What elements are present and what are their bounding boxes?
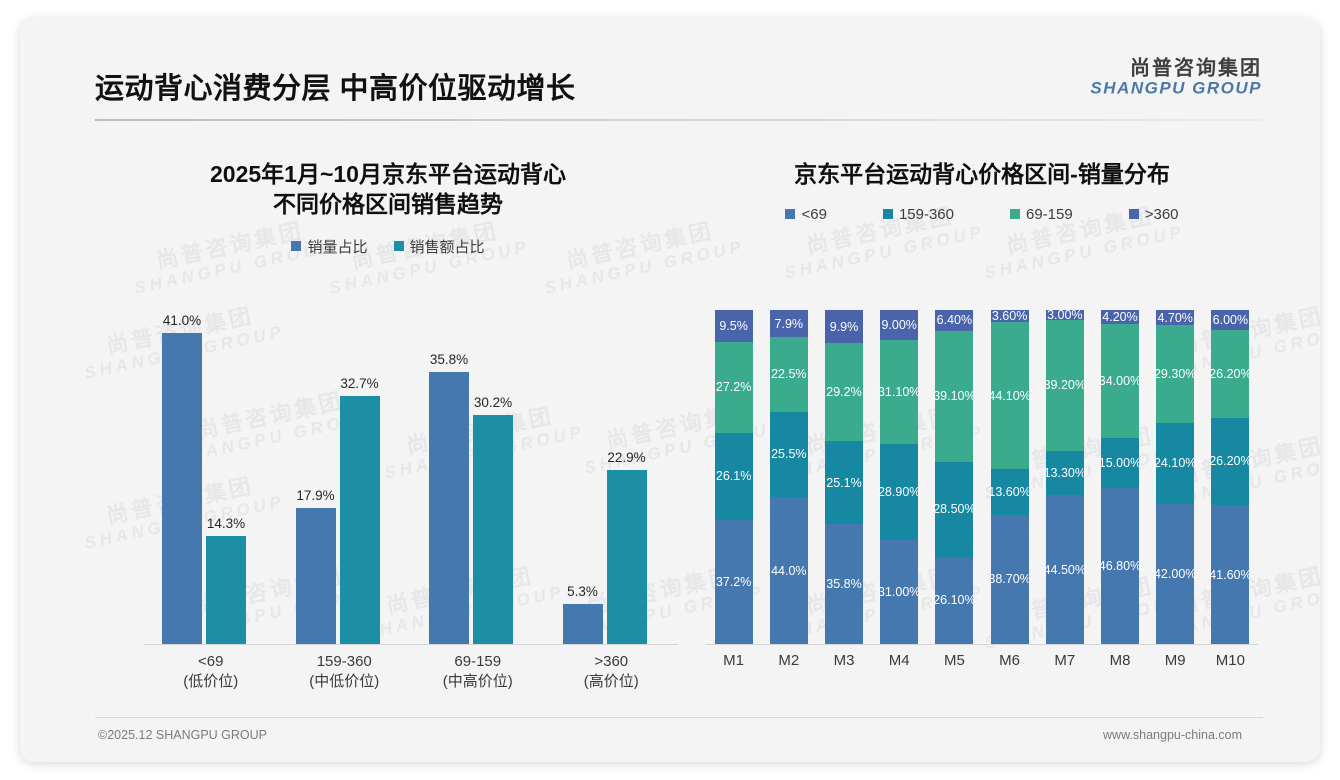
bar-group: 41.0%14.3% bbox=[144, 314, 278, 644]
brand-logo: 尚普咨询集团 SHANGPU GROUP bbox=[1090, 59, 1262, 98]
stacked-bar-segment[interactable]: 7.9% bbox=[770, 310, 808, 336]
chart-title-left-line2: 不同价格区间销售趋势 bbox=[98, 190, 678, 220]
stacked-bar-column[interactable]: 38.70%13.60%44.10%3.60% bbox=[991, 310, 1029, 644]
bar-group: 5.3%22.9% bbox=[545, 314, 679, 644]
stacked-bar-value-label: 31.00% bbox=[878, 585, 920, 599]
stacked-bar-segment[interactable]: 25.5% bbox=[770, 412, 808, 497]
stacked-bar-segment[interactable]: 15.00% bbox=[1101, 438, 1139, 488]
x-axis-month-label: M10 bbox=[1195, 652, 1265, 669]
legend-swatch-icon bbox=[291, 241, 301, 251]
stacked-bar-value-label: 3.00% bbox=[1047, 308, 1082, 322]
stacked-bar-segment[interactable]: 34.00% bbox=[1101, 324, 1139, 438]
brand-logo-cn: 尚普咨询集团 bbox=[1090, 59, 1262, 80]
stacked-bar-value-label: 28.90% bbox=[878, 485, 920, 499]
stacked-bar-value-label: 9.9% bbox=[830, 320, 859, 334]
grouped-bar-x-axis bbox=[144, 644, 678, 645]
legend-label: 销量占比 bbox=[307, 236, 367, 257]
bar-rect[interactable] bbox=[296, 508, 336, 644]
page-title: 运动背心消费分层 中高价位驱动增长 bbox=[95, 65, 576, 107]
stacked-bar-segment[interactable]: 28.90% bbox=[880, 444, 918, 541]
legend-item-left-1[interactable]: 销售额占比 bbox=[394, 236, 485, 257]
bar-group: 17.9%32.7% bbox=[278, 314, 412, 644]
stacked-bar-column[interactable]: 44.0%25.5%22.5%7.9% bbox=[770, 310, 808, 644]
bar-column[interactable]: 32.7% bbox=[340, 314, 380, 644]
bar-column[interactable]: 14.3% bbox=[206, 314, 246, 644]
stacked-bar-value-label: 35.8% bbox=[826, 577, 861, 591]
chart-legend-right: <69159-36069-159>360 bbox=[692, 206, 1272, 223]
legend-label: <69 bbox=[801, 206, 826, 223]
x-axis-category-label: 159-360(中低价位) bbox=[274, 652, 414, 693]
stacked-bar-segment[interactable]: 27.2% bbox=[715, 342, 753, 433]
x-axis-category-name: 69-159 bbox=[408, 652, 548, 672]
stacked-bar-value-label: 22.5% bbox=[771, 367, 806, 381]
chart-title-left-line1: 2025年1月~10月京东平台运动背心 bbox=[98, 160, 678, 190]
x-axis-category-sublabel: (高价位) bbox=[541, 672, 681, 692]
legend-label: 159-360 bbox=[899, 206, 954, 223]
bar-column[interactable]: 30.2% bbox=[473, 314, 513, 644]
bar-rect[interactable] bbox=[162, 333, 202, 644]
footer-website[interactable]: www.shangpu-china.com bbox=[1103, 728, 1242, 742]
footer-divider bbox=[95, 717, 1263, 718]
stacked-bar-value-label: 31.10% bbox=[878, 385, 920, 399]
stacked-bar-segment[interactable]: 37.2% bbox=[715, 520, 753, 644]
legend-item-right-3[interactable]: >360 bbox=[1129, 206, 1179, 223]
x-axis-category-label: >360(高价位) bbox=[541, 652, 681, 693]
bar-column[interactable]: 35.8% bbox=[429, 314, 469, 644]
legend-label: 销售额占比 bbox=[410, 236, 485, 257]
bar-rect[interactable] bbox=[340, 396, 380, 644]
stacked-bar-value-label: 46.80% bbox=[1099, 559, 1141, 573]
stacked-bar-value-label: 27.2% bbox=[716, 380, 751, 394]
legend-swatch-icon bbox=[1010, 209, 1020, 219]
bar-value-label: 14.3% bbox=[189, 516, 263, 531]
stacked-bar-segment[interactable]: 28.50% bbox=[935, 462, 973, 557]
bar-column[interactable]: 41.0% bbox=[162, 314, 202, 644]
stacked-bar-segment[interactable]: 44.0% bbox=[770, 497, 808, 644]
bar-group: 35.8%30.2% bbox=[411, 314, 545, 644]
footer-copyright: ©2025.12 SHANGPU GROUP bbox=[98, 728, 267, 742]
stacked-bar-column[interactable]: 44.50%13.30%39.20%3.00% bbox=[1046, 310, 1084, 644]
x-axis-category-name: <69 bbox=[141, 652, 281, 672]
stacked-bar-value-label: 34.00% bbox=[1099, 374, 1141, 388]
legend-item-right-1[interactable]: 159-360 bbox=[883, 206, 954, 223]
stacked-bar-value-label: 6.40% bbox=[937, 313, 972, 327]
header-divider bbox=[95, 119, 1263, 121]
chart-title-left: 2025年1月~10月京东平台运动背心 不同价格区间销售趋势 bbox=[98, 146, 678, 220]
stacked-bar-value-label: 25.5% bbox=[771, 447, 806, 461]
legend-item-right-2[interactable]: 69-159 bbox=[1010, 206, 1073, 223]
legend-item-left-0[interactable]: 销量占比 bbox=[291, 236, 367, 257]
stacked-bar-column[interactable]: 41.60%26.20%26.20%6.00% bbox=[1211, 310, 1249, 644]
stacked-bar-segment[interactable]: 3.00% bbox=[1046, 310, 1084, 320]
stacked-bar-segment[interactable]: 9.9% bbox=[825, 310, 863, 343]
chart-panel-price-band-distribution: 京东平台运动背心价格区间-销量分布 <69159-36069-159>360 3… bbox=[692, 146, 1272, 716]
legend-label: 69-159 bbox=[1026, 206, 1073, 223]
stacked-bar-segment[interactable]: 9.00% bbox=[880, 310, 918, 340]
bar-column[interactable]: 17.9% bbox=[296, 314, 336, 644]
stacked-bar-value-label: 29.2% bbox=[826, 385, 861, 399]
stacked-bar-column[interactable]: 46.80%15.00%34.00%4.20% bbox=[1101, 310, 1139, 644]
x-axis-category-sublabel: (低价位) bbox=[141, 672, 281, 692]
stacked-bar-value-label: 13.30% bbox=[1044, 466, 1086, 480]
bar-column[interactable]: 22.9% bbox=[607, 314, 647, 644]
stacked-bar-segment[interactable]: 42.00% bbox=[1156, 504, 1194, 644]
stacked-bar-segment[interactable]: 24.10% bbox=[1156, 423, 1194, 503]
stacked-bar-value-label: 6.00% bbox=[1213, 313, 1248, 327]
stacked-bar-segment[interactable]: 13.60% bbox=[991, 469, 1029, 514]
stacked-bar-value-label: 29.30% bbox=[1154, 367, 1196, 381]
legend-item-right-0[interactable]: <69 bbox=[785, 206, 826, 223]
stacked-bar-segment[interactable]: 31.10% bbox=[880, 340, 918, 444]
stacked-bar-column[interactable]: 42.00%24.10%29.30%4.70% bbox=[1156, 310, 1194, 644]
stacked-bar-segment[interactable]: 4.70% bbox=[1156, 310, 1194, 326]
bar-rect[interactable] bbox=[206, 536, 246, 644]
stacked-bar-value-label: 44.0% bbox=[771, 564, 806, 578]
x-axis-category-label: <69(低价位) bbox=[141, 652, 281, 693]
stacked-bar-segment[interactable]: 26.10% bbox=[935, 557, 973, 644]
legend-swatch-icon bbox=[394, 241, 404, 251]
stacked-bar-segment[interactable]: 41.60% bbox=[1211, 505, 1249, 644]
stacked-bar-column[interactable]: 31.00%28.90%31.10%9.00% bbox=[880, 310, 918, 644]
stacked-bar-value-label: 26.20% bbox=[1209, 454, 1251, 468]
bar-rect[interactable] bbox=[563, 604, 603, 644]
stacked-bar-value-label: 15.00% bbox=[1099, 456, 1141, 470]
stacked-bar-segment[interactable]: 29.2% bbox=[825, 343, 863, 441]
stacked-bar-value-label: 25.1% bbox=[826, 476, 861, 490]
legend-label: >360 bbox=[1145, 206, 1179, 223]
stacked-bar-segment[interactable]: 13.30% bbox=[1046, 451, 1084, 495]
stacked-bar-plot-area: 37.2%26.1%27.2%9.5%44.0%25.5%22.5%7.9%35… bbox=[706, 310, 1258, 644]
stacked-bar-column[interactable]: 37.2%26.1%27.2%9.5% bbox=[715, 310, 753, 644]
stacked-bar-value-label: 9.5% bbox=[719, 319, 748, 333]
stacked-bar-x-axis bbox=[706, 644, 1258, 645]
stacked-bar-segment[interactable]: 39.20% bbox=[1046, 320, 1084, 451]
stacked-bar-value-label: 41.60% bbox=[1209, 568, 1251, 582]
stacked-bar-value-label: 7.9% bbox=[775, 317, 804, 331]
stacked-bar-segment[interactable]: 6.40% bbox=[935, 310, 973, 331]
stacked-bar-segment[interactable]: 38.70% bbox=[991, 515, 1029, 644]
x-axis-category-sublabel: (中高价位) bbox=[408, 672, 548, 692]
x-axis-category-name: 159-360 bbox=[274, 652, 414, 672]
legend-swatch-icon bbox=[1129, 209, 1139, 219]
bar-rect[interactable] bbox=[473, 415, 513, 644]
stacked-bar-segment[interactable]: 25.1% bbox=[825, 441, 863, 525]
brand-logo-en: SHANGPU GROUP bbox=[1090, 80, 1262, 98]
stacked-bar-segment[interactable]: 26.20% bbox=[1211, 418, 1249, 506]
stacked-bar-value-label: 13.60% bbox=[988, 485, 1030, 499]
stacked-bar-value-label: 39.10% bbox=[933, 389, 975, 403]
grouped-bar-plot-area: 41.0%14.3%17.9%32.7%35.8%30.2%5.3%22.9% bbox=[144, 314, 678, 644]
stacked-bar-value-label: 37.2% bbox=[716, 575, 751, 589]
stacked-bar-value-label: 24.10% bbox=[1154, 456, 1196, 470]
stacked-bar-segment[interactable]: 44.50% bbox=[1046, 495, 1084, 644]
stacked-bar-segment[interactable]: 3.60% bbox=[991, 310, 1029, 322]
slide-header: 运动背心消费分层 中高价位驱动增长 尚普咨询集团 SHANGPU GROUP bbox=[20, 18, 1320, 122]
slide-canvas: 运动背心消费分层 中高价位驱动增长 尚普咨询集团 SHANGPU GROUP 尚… bbox=[20, 18, 1320, 762]
stacked-bar-value-label: 26.10% bbox=[933, 593, 975, 607]
stacked-bar-segment[interactable]: 31.00% bbox=[880, 540, 918, 644]
stacked-bar-segment[interactable]: 6.00% bbox=[1211, 310, 1249, 330]
bar-rect[interactable] bbox=[429, 372, 469, 644]
stacked-bar-segment[interactable]: 22.5% bbox=[770, 337, 808, 412]
bar-column[interactable]: 5.3% bbox=[563, 314, 603, 644]
stacked-bar-value-label: 39.20% bbox=[1044, 378, 1086, 392]
stacked-bar-segment[interactable]: 35.8% bbox=[825, 524, 863, 644]
legend-swatch-icon bbox=[883, 209, 893, 219]
stacked-bar-value-label: 4.70% bbox=[1157, 311, 1192, 325]
stacked-bar-value-label: 9.00% bbox=[881, 318, 916, 332]
stacked-bar-value-label: 3.60% bbox=[992, 309, 1027, 323]
stacked-bar-segment[interactable]: 26.1% bbox=[715, 433, 753, 520]
stacked-bar-segment[interactable]: 44.10% bbox=[991, 322, 1029, 469]
chart-panel-price-band-trend: 2025年1月~10月京东平台运动背心 不同价格区间销售趋势 销量占比销售额占比… bbox=[98, 146, 678, 716]
bar-rect[interactable] bbox=[607, 470, 647, 644]
stacked-bar-value-label: 26.20% bbox=[1209, 367, 1251, 381]
x-axis-category-sublabel: (中低价位) bbox=[274, 672, 414, 692]
stacked-bar-value-label: 4.20% bbox=[1102, 310, 1137, 324]
stacked-bar-value-label: 42.00% bbox=[1154, 567, 1196, 581]
x-axis-category-name: >360 bbox=[541, 652, 681, 672]
stacked-bar-value-label: 44.50% bbox=[1044, 563, 1086, 577]
legend-swatch-icon bbox=[785, 209, 795, 219]
bar-value-label: 22.9% bbox=[590, 450, 664, 465]
bar-value-label: 32.7% bbox=[323, 376, 397, 391]
stacked-bar-segment[interactable]: 46.80% bbox=[1101, 488, 1139, 644]
bar-value-label: 30.2% bbox=[456, 395, 530, 410]
stacked-bar-segment[interactable]: 4.20% bbox=[1101, 310, 1139, 324]
stacked-bar-column[interactable]: 26.10%28.50%39.10%6.40% bbox=[935, 310, 973, 644]
stacked-bar-segment[interactable]: 26.20% bbox=[1211, 330, 1249, 418]
stacked-bar-segment[interactable]: 9.5% bbox=[715, 310, 753, 342]
stacked-bar-segment[interactable]: 29.30% bbox=[1156, 325, 1194, 423]
chart-title-right: 京东平台运动背心价格区间-销量分布 bbox=[692, 146, 1272, 190]
stacked-bar-column[interactable]: 35.8%25.1%29.2%9.9% bbox=[825, 310, 863, 644]
stacked-bar-value-label: 44.10% bbox=[988, 389, 1030, 403]
stacked-bar-value-label: 26.1% bbox=[716, 469, 751, 483]
stacked-bar-segment[interactable]: 39.10% bbox=[935, 331, 973, 462]
stacked-bar-value-label: 28.50% bbox=[933, 502, 975, 516]
chart-legend-left: 销量占比销售额占比 bbox=[98, 236, 678, 257]
stacked-bar-value-label: 38.70% bbox=[988, 572, 1030, 586]
x-axis-category-label: 69-159(中高价位) bbox=[408, 652, 548, 693]
